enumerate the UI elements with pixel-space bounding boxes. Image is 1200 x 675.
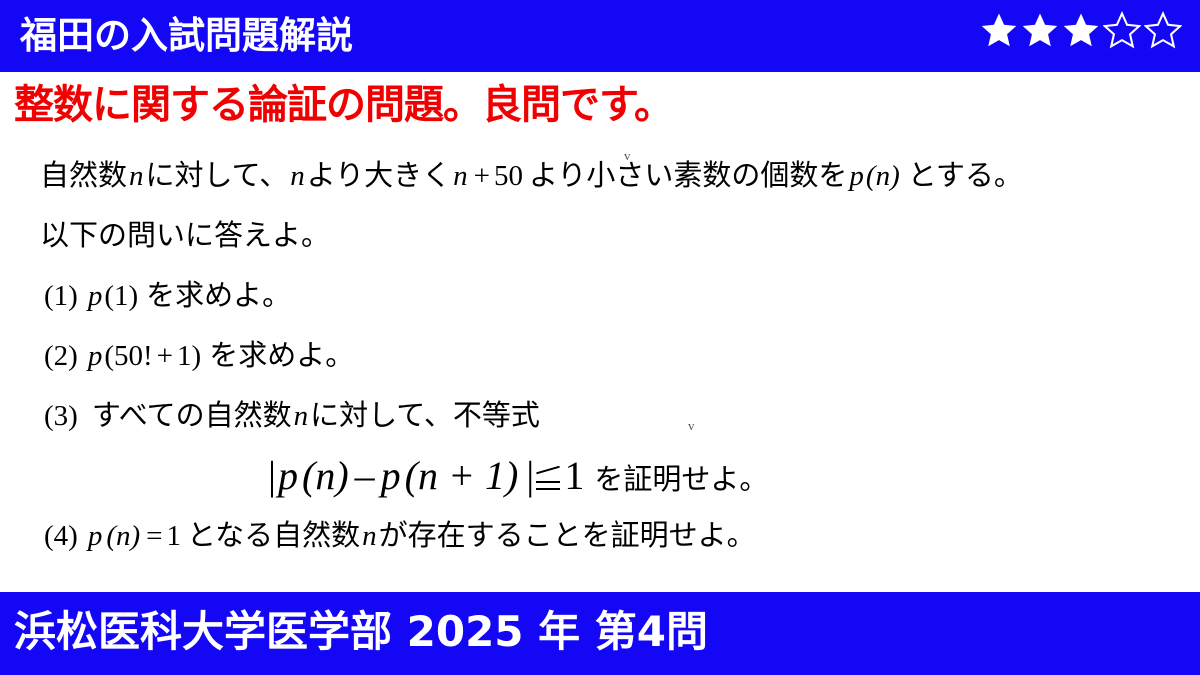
abs-bar-close: |	[520, 453, 534, 498]
math-number-50: 50	[494, 160, 523, 192]
less-than-or-equal-icon	[534, 461, 564, 495]
problem-item-3: (3)すべての自然数nに対して、不等式 v	[0, 386, 1200, 446]
text-run: を証明せよ。	[584, 464, 768, 496]
text-run: 自然数	[40, 160, 127, 192]
slide-canvas: 福田の入試問題解説 整数に関する論証の問題。良問です。 自然数nに対して、nより…	[0, 0, 1200, 675]
text-run: に対して、	[146, 160, 289, 192]
item-number: (3)	[44, 400, 86, 432]
abs-bar-open: |	[268, 453, 276, 498]
star-filled-icon	[1021, 11, 1059, 49]
item-number: (2)	[44, 340, 86, 372]
math-number-1: 1	[167, 520, 182, 552]
item-number: (4)	[44, 520, 86, 552]
footer-bar: 浜松医科大学医学部 2025 年 第4問	[0, 592, 1200, 675]
math-variable-n: n	[288, 160, 307, 192]
math-number-1: 1	[564, 453, 584, 498]
item-number: (1)	[44, 280, 86, 312]
math-function-p: p	[86, 280, 105, 312]
header-bar: 福田の入試問題解説	[0, 0, 1200, 72]
text-run: より小さい素数の個数を	[523, 160, 847, 192]
math-argument-n: (n)	[104, 520, 142, 552]
math-function-p: p	[276, 453, 300, 498]
math-variable-n: n	[451, 160, 470, 192]
math-variable-n: n	[360, 520, 379, 552]
problem-item-2: (2)p(50!+1)を求めよ。	[0, 326, 1200, 386]
source-label: 浜松医科大学医学部 2025 年 第4問	[14, 602, 708, 662]
math-function-p: p	[847, 160, 866, 192]
math-function-p: p	[86, 340, 105, 372]
text-run: を求めよ。	[201, 340, 354, 372]
math-operator-minus: –	[351, 453, 379, 498]
math-variable-n: n	[292, 400, 311, 432]
subtitle-text: 整数に関する論証の問題。良問です。	[14, 78, 673, 132]
math-argument-open: (50!	[104, 340, 152, 372]
text-run: より大きく	[307, 160, 451, 192]
math-function-p: p	[379, 453, 403, 498]
math-argument: (1)	[104, 280, 138, 312]
text-run: 以下の問いに答えよ。	[40, 220, 330, 252]
star-outline-icon	[1103, 11, 1141, 49]
math-argument-n-plus-1: (n + 1)	[403, 453, 521, 498]
text-run: すべての自然数	[86, 400, 292, 432]
problem-line-2: 以下の問いに答えよ。	[0, 206, 1200, 266]
text-run: を求めよ。	[138, 280, 291, 312]
math-variable-n: n	[127, 160, 146, 192]
text-run: とする。	[902, 160, 1023, 192]
text-run: となる自然数	[181, 520, 360, 552]
math-argument-n: (n)	[300, 453, 351, 498]
problem-item-3-formula: |p(n)–p(n + 1)|1を証明せよ。	[0, 446, 1200, 506]
problem-item-1: (1)p(1)を求めよ。	[0, 266, 1200, 326]
text-run: が存在することを証明せよ。	[379, 520, 756, 552]
text-run: に対して、不等式	[310, 400, 540, 432]
problem-line-1: 自然数nに対して、nより大きくn+50より小さい素数の個数をp(n)とする。	[0, 146, 1200, 206]
difficulty-rating	[980, 11, 1182, 49]
star-filled-icon	[980, 11, 1018, 49]
page-title: 福田の入試問題解説	[20, 10, 353, 62]
star-filled-icon	[1062, 11, 1100, 49]
star-outline-icon	[1144, 11, 1182, 49]
math-operator-plus: +	[470, 160, 494, 192]
problem-statement: 自然数nに対して、nより大きくn+50より小さい素数の個数をp(n)とする。 以…	[0, 146, 1200, 566]
caret-artifact: v	[624, 148, 631, 164]
math-operator-equals: =	[142, 520, 166, 552]
math-operator-plus: +	[153, 340, 177, 372]
math-argument-close: 1)	[177, 340, 201, 372]
math-function-p: p	[86, 520, 105, 552]
math-argument-n: (n)	[866, 160, 902, 192]
problem-item-4: (4)p(n)=1となる自然数nが存在することを証明せよ。	[0, 506, 1200, 566]
